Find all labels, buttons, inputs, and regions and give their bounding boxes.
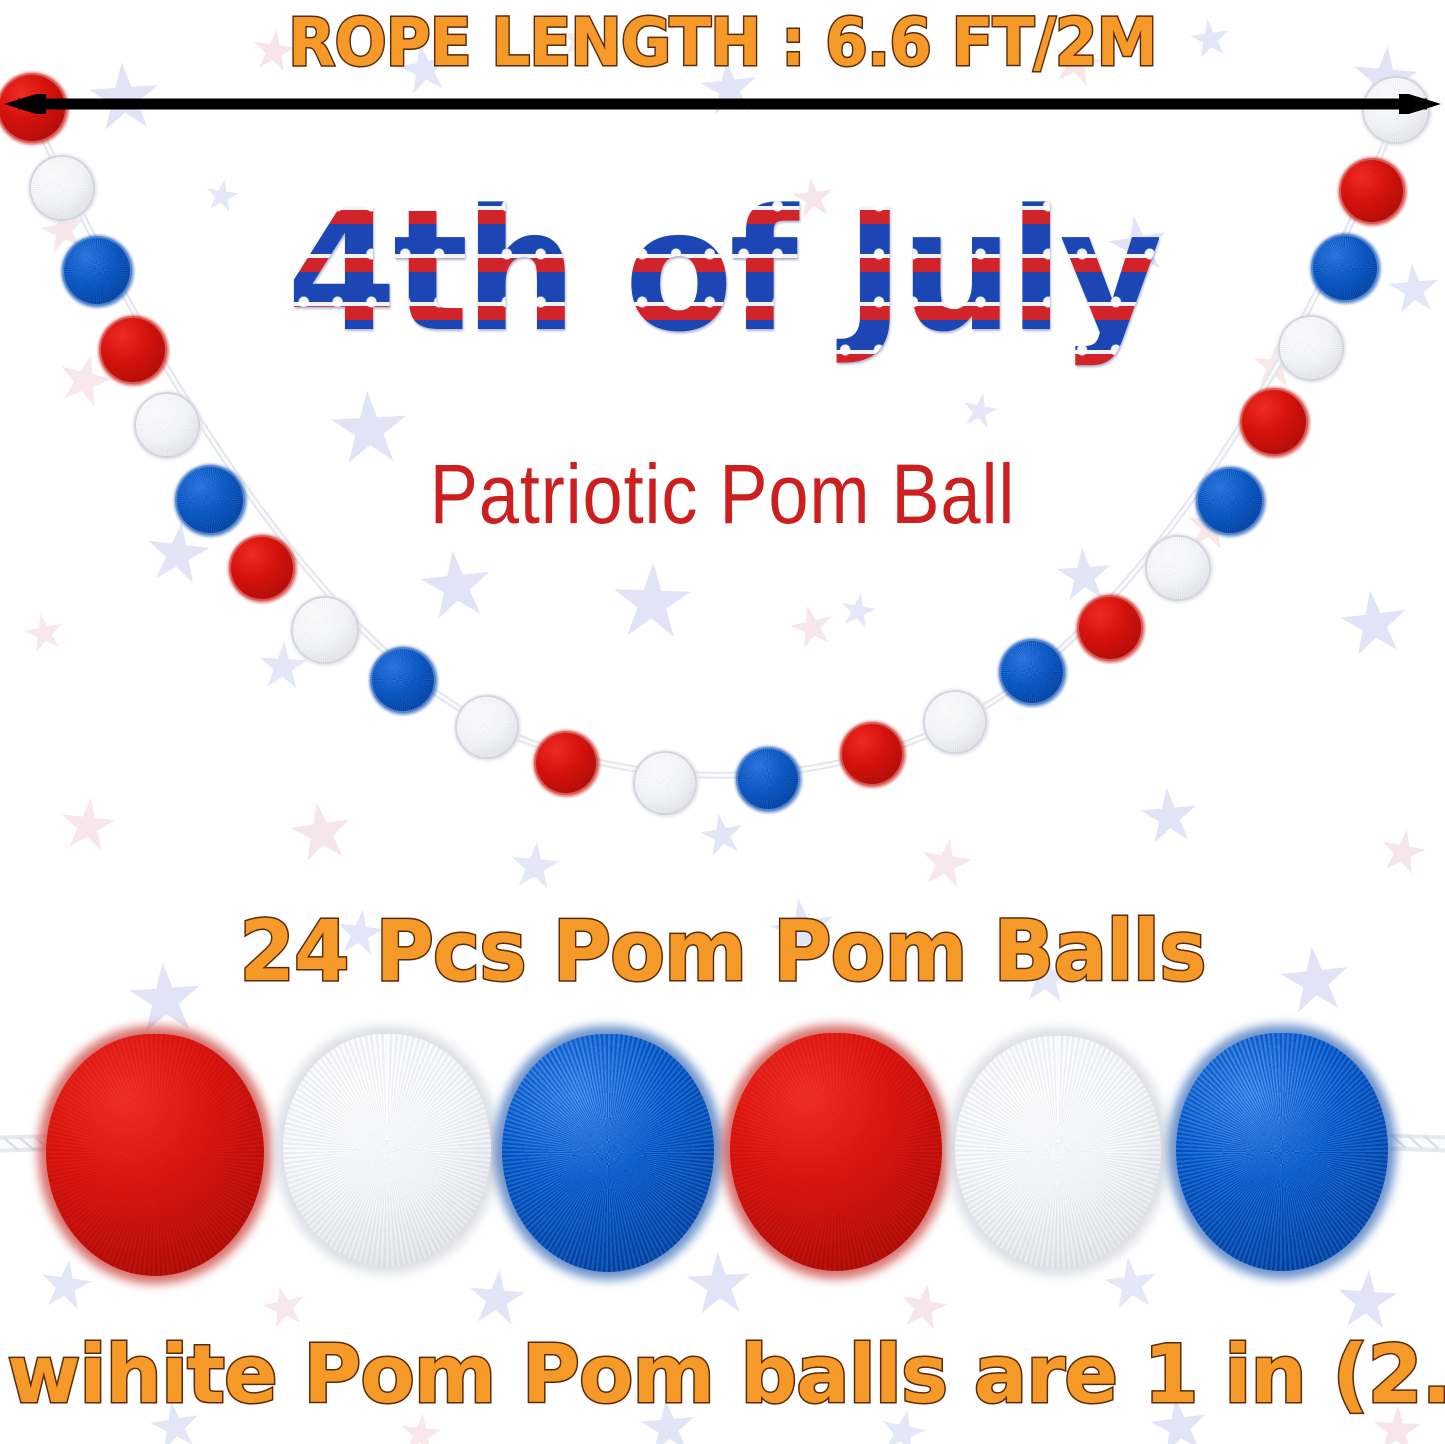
garland-pom-red: [231, 537, 293, 599]
background-star: [684, 1248, 753, 1317]
sample-pom-blue: [1176, 1033, 1388, 1271]
pom-size-label: wihite Pom Pom balls are 1 in (2.5 cm): [7, 1330, 1438, 1420]
sample-pom-white: [955, 1036, 1161, 1268]
garland-pom-red: [842, 724, 902, 784]
garland-pom-white: [457, 697, 517, 757]
background-star: [258, 1280, 310, 1332]
background-star: [896, 1278, 952, 1334]
sample-rope-right: [1390, 1120, 1445, 1164]
garland-rope: [0, 0, 1445, 860]
pom-count-label: 24 Pcs Pom Pom Balls: [36, 904, 1409, 998]
rope-length-arrow-icon: [0, 94, 1445, 114]
background-star: [466, 1266, 529, 1329]
rope-length-label: ROPE LENGTH : 6.6 FT/2M: [51, 6, 1395, 80]
sample-pom-red: [46, 1034, 264, 1276]
garland-pom-white: [136, 394, 198, 456]
sample-pom-red: [730, 1033, 942, 1271]
garland-pom-white: [925, 692, 985, 752]
sample-pom-white: [283, 1034, 491, 1266]
sample-pom-blue: [502, 1034, 714, 1272]
background-star: [1334, 1266, 1400, 1332]
garland-pom-blue: [738, 749, 798, 809]
product-image-canvas: ROPE LENGTH : 6.6 FT/2M 4th of July Patr…: [0, 0, 1445, 1444]
page-subtitle: Patriotic Pom Ball: [101, 448, 1344, 540]
garland-pom-red: [536, 733, 596, 793]
garland-pom-white: [635, 753, 695, 813]
background-star: [37, 1255, 96, 1314]
garland-pom-blue: [1001, 641, 1063, 703]
garland-pom-white: [293, 598, 357, 662]
garland-pom-blue: [372, 649, 434, 711]
background-star: [1101, 1253, 1161, 1313]
garland-pom-red: [1242, 390, 1306, 454]
garland-pom-white: [1147, 537, 1209, 599]
page-title: 4th of July: [0, 176, 1445, 366]
garland-pom-red: [1079, 597, 1141, 659]
page-title-text: 4th of July: [287, 176, 1159, 366]
